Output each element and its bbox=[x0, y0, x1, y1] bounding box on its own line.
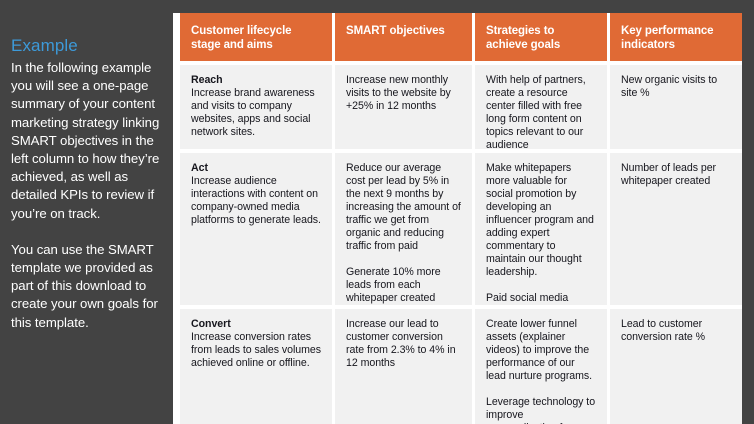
objective-item: Increase our lead to customer conversion… bbox=[346, 318, 461, 370]
table-header-cell-stage: Customer lifecycle stage and aims bbox=[180, 13, 335, 61]
table-header-row: Customer lifecycle stage and aims SMART … bbox=[180, 13, 742, 61]
table-cell-strategies: Create lower funnel assets (explainer vi… bbox=[475, 309, 610, 424]
table-cell-objectives: Increase our lead to customer conversion… bbox=[335, 309, 475, 424]
slide-canvas: Example In the following example you wil… bbox=[0, 0, 754, 424]
table-header-cell-objectives: SMART objectives bbox=[335, 13, 475, 61]
sidebar-paragraph-2: You can use the SMART template we provid… bbox=[11, 241, 161, 332]
sidebar-title: Example bbox=[11, 36, 161, 56]
header-label-objectives: SMART objectives bbox=[346, 24, 461, 38]
stage-description: Increase audience interactions with cont… bbox=[191, 175, 321, 227]
stage-description: Increase conversion rates from leads to … bbox=[191, 331, 321, 370]
table-row: Reach Increase brand awareness and visit… bbox=[180, 61, 742, 149]
table-cell-stage: Act Increase audience interactions with … bbox=[180, 153, 335, 305]
stage-description: Increase brand awareness and visits to c… bbox=[191, 87, 321, 139]
table-header-cell-kpis: Key performance indicators bbox=[610, 13, 742, 61]
kpi-item: Lead to customer conversion rate % bbox=[621, 318, 731, 344]
header-label-kpis: Key performance indicators bbox=[621, 24, 731, 52]
table-cell-kpis: New organic visits to site % bbox=[610, 65, 742, 149]
stage-title: Act bbox=[191, 162, 321, 175]
kpi-item: New organic visits to site % bbox=[621, 74, 731, 100]
table-cell-stage: Reach Increase brand awareness and visit… bbox=[180, 65, 335, 149]
stage-title: Convert bbox=[191, 318, 321, 331]
objective-item: Generate 10% more leads from each whitep… bbox=[346, 266, 461, 305]
kpi-item: Number of leads per whitepaper created bbox=[621, 162, 731, 188]
objective-item: Reduce our average cost per lead by 5% i… bbox=[346, 162, 461, 253]
table-cell-kpis: Lead to customer conversion rate % bbox=[610, 309, 742, 424]
table-cell-objectives: Reduce our average cost per lead by 5% i… bbox=[335, 153, 475, 305]
strategy-item: Leverage technology to improve personali… bbox=[486, 396, 596, 424]
strategy-item: Create lower funnel assets (explainer vi… bbox=[486, 318, 596, 383]
sidebar-paragraph-1: In the following example you will see a … bbox=[11, 59, 161, 223]
table-cell-strategies: Make whitepapers more valuable for socia… bbox=[475, 153, 610, 305]
sidebar-spacer bbox=[11, 223, 161, 241]
explanation-sidebar: Example In the following example you wil… bbox=[0, 0, 173, 424]
objective-item: Increase new monthly visits to the websi… bbox=[346, 74, 461, 113]
table-cell-kpis: Number of leads per whitepaper created bbox=[610, 153, 742, 305]
table-header-cell-strategies: Strategies to achieve goals bbox=[475, 13, 610, 61]
top-background-strip bbox=[173, 0, 754, 13]
header-label-strategies: Strategies to achieve goals bbox=[486, 24, 596, 52]
table-row: Act Increase audience interactions with … bbox=[180, 149, 742, 305]
table-row: Convert Increase conversion rates from l… bbox=[180, 305, 742, 424]
sidebar-table-gutter bbox=[173, 0, 180, 424]
strategy-item: Paid social media distribution for white… bbox=[486, 292, 596, 305]
stage-title: Reach bbox=[191, 74, 321, 87]
table-cell-strategies: With help of partners, create a resource… bbox=[475, 65, 610, 149]
table-cell-stage: Convert Increase conversion rates from l… bbox=[180, 309, 335, 424]
header-label-stage: Customer lifecycle stage and aims bbox=[191, 24, 321, 52]
strategy-item: Make whitepapers more valuable for socia… bbox=[486, 162, 596, 279]
smart-objectives-table: Customer lifecycle stage and aims SMART … bbox=[180, 13, 742, 424]
right-background-strip bbox=[742, 0, 754, 424]
table-cell-objectives: Increase new monthly visits to the websi… bbox=[335, 65, 475, 149]
strategy-item: With help of partners, create a resource… bbox=[486, 74, 596, 149]
